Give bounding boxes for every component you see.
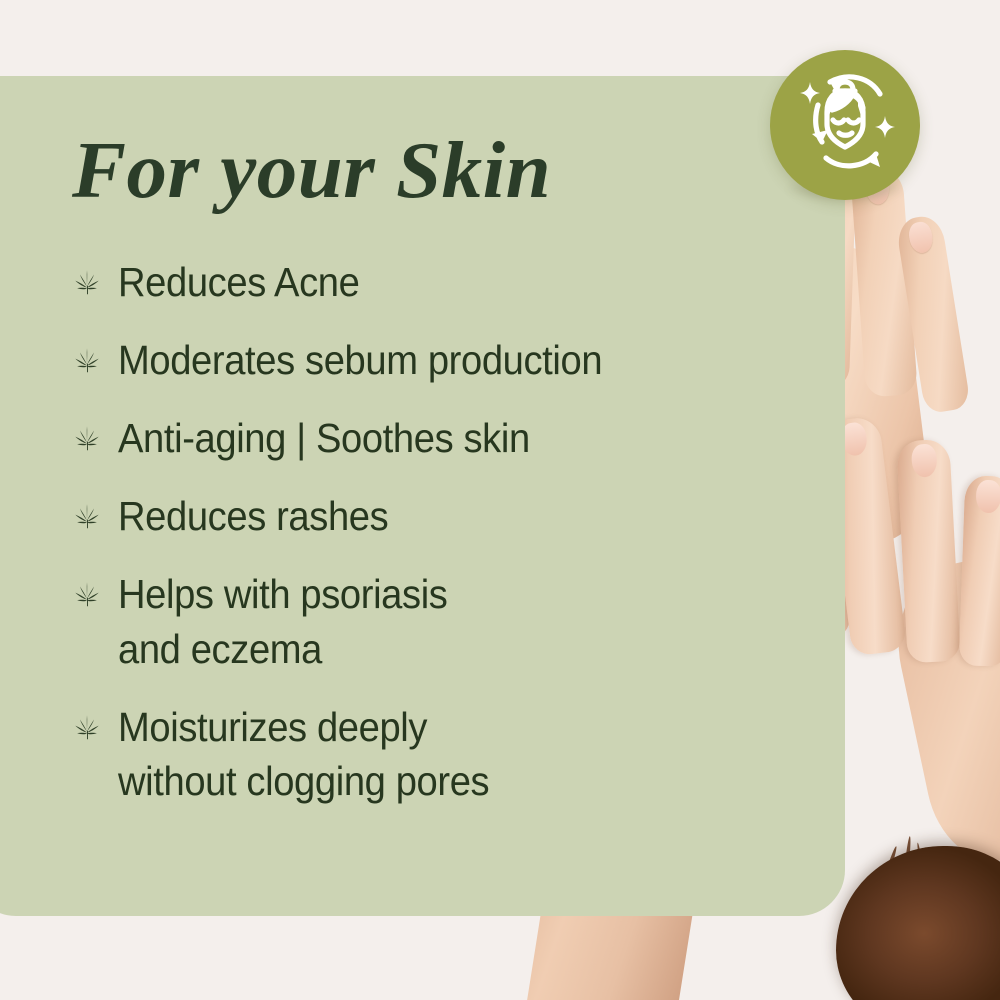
- fingernail: [976, 480, 1000, 514]
- hair-wisp: [916, 842, 927, 892]
- hand-finger: [896, 439, 961, 663]
- cannabis-leaf-icon: [72, 345, 102, 375]
- list-item: Anti-aging | Soothes skin: [72, 411, 800, 465]
- benefit-label: Moisturizes deeply without clogging pore…: [118, 700, 489, 808]
- hand-finger: [895, 214, 971, 415]
- page-title: For your Skin: [72, 130, 800, 211]
- front-hand-palm: [882, 548, 1000, 873]
- list-item: Reduces Acne: [72, 255, 800, 309]
- list-item: Moderates sebum production: [72, 333, 800, 387]
- cannabis-leaf-icon: [72, 712, 102, 742]
- hand-finger: [959, 475, 1000, 667]
- hair-bun: [836, 846, 1000, 1000]
- hair-wisp: [936, 855, 951, 894]
- cannabis-leaf-icon: [72, 579, 102, 609]
- fingernail: [910, 443, 937, 477]
- benefit-label: Helps with psoriasis and eczema: [118, 567, 447, 675]
- cannabis-leaf-icon: [72, 423, 102, 453]
- benefit-label: Moderates sebum production: [118, 333, 602, 387]
- cannabis-leaf-icon: [72, 501, 102, 531]
- hair-wisp: [902, 836, 912, 892]
- benefits-list: Reduces Acne: [72, 255, 800, 808]
- poster-stage: For your Skin: [0, 0, 1000, 1000]
- cannabis-leaf-icon: [72, 267, 102, 297]
- hair-wisp: [880, 846, 898, 891]
- fingernail: [907, 220, 935, 254]
- benefit-label: Reduces Acne: [118, 255, 359, 309]
- list-item: Moisturizes deeply without clogging pore…: [72, 700, 800, 808]
- benefit-label: Anti-aging | Soothes skin: [118, 411, 530, 465]
- list-item: Reduces rashes: [72, 489, 800, 543]
- skin-renewal-badge: [770, 50, 920, 200]
- hair-wisp: [862, 866, 883, 896]
- benefit-label: Reduces rashes: [118, 489, 388, 543]
- hair-wisp: [959, 868, 975, 896]
- list-item: Helps with psoriasis and eczema: [72, 567, 800, 675]
- card-content: For your Skin: [0, 76, 800, 916]
